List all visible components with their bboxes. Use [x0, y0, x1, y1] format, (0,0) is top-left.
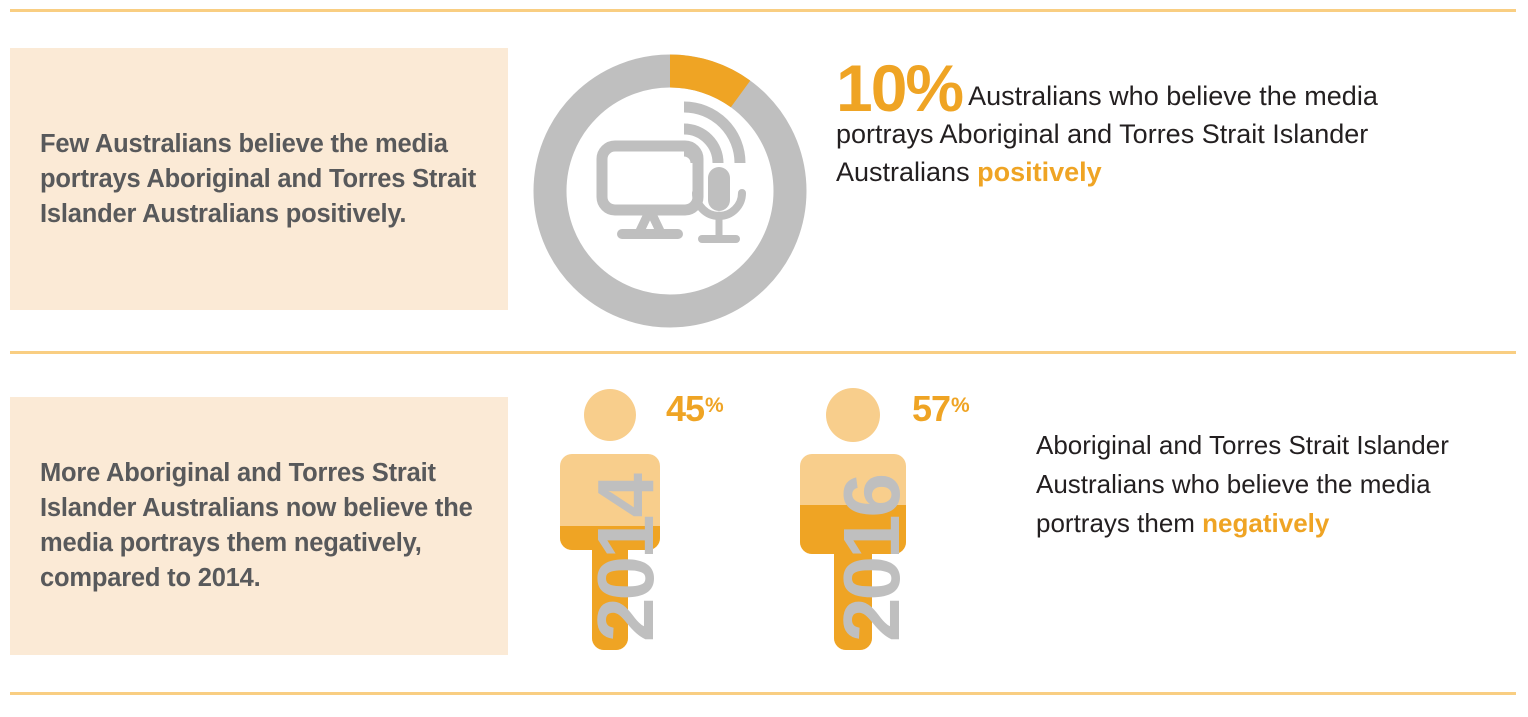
- stat-highlight-negatively: negatively: [1202, 508, 1329, 538]
- person-figure-group-2016: 57% 2016: [800, 388, 1025, 650]
- percent-label-2014: 45%: [666, 388, 723, 427]
- donut-segment-remainder: [550, 71, 790, 311]
- statement-text: Few Australians believe the media portra…: [10, 127, 508, 232]
- divider-bottom: [10, 692, 1516, 695]
- year-label-2016: 2016: [832, 476, 912, 642]
- stat-callout-positive: 10%Australians who believe the media por…: [836, 62, 1436, 191]
- stat-callout-negative: Aboriginal and Torres Strait Islander Au…: [1036, 426, 1456, 543]
- percent-sign: %: [705, 394, 723, 417]
- person-figure-group-2014: 45% 2014: [560, 388, 775, 650]
- statement-panel-media-positive: Few Australians believe the media portra…: [10, 48, 508, 310]
- statement-panel-media-negative: More Aboriginal and Torres Strait Island…: [10, 397, 508, 655]
- stat-highlight-positively: positively: [977, 157, 1102, 187]
- donut-chart-svg: [522, 43, 818, 339]
- year-label-2014: 2014: [586, 476, 666, 642]
- divider-top: [10, 9, 1516, 12]
- percent-value: 57: [912, 388, 950, 429]
- tv-microphone-broadcast-icon: [602, 107, 742, 243]
- statement-text: More Aboriginal and Torres Strait Island…: [10, 456, 508, 596]
- percent-value: 45: [666, 388, 704, 429]
- donut-chart-positive-perception: [522, 43, 818, 339]
- stat-value-10-percent: 10%: [836, 51, 962, 125]
- percent-label-2016: 57%: [912, 388, 969, 427]
- divider-middle: [10, 351, 1516, 354]
- percent-sign: %: [951, 394, 969, 417]
